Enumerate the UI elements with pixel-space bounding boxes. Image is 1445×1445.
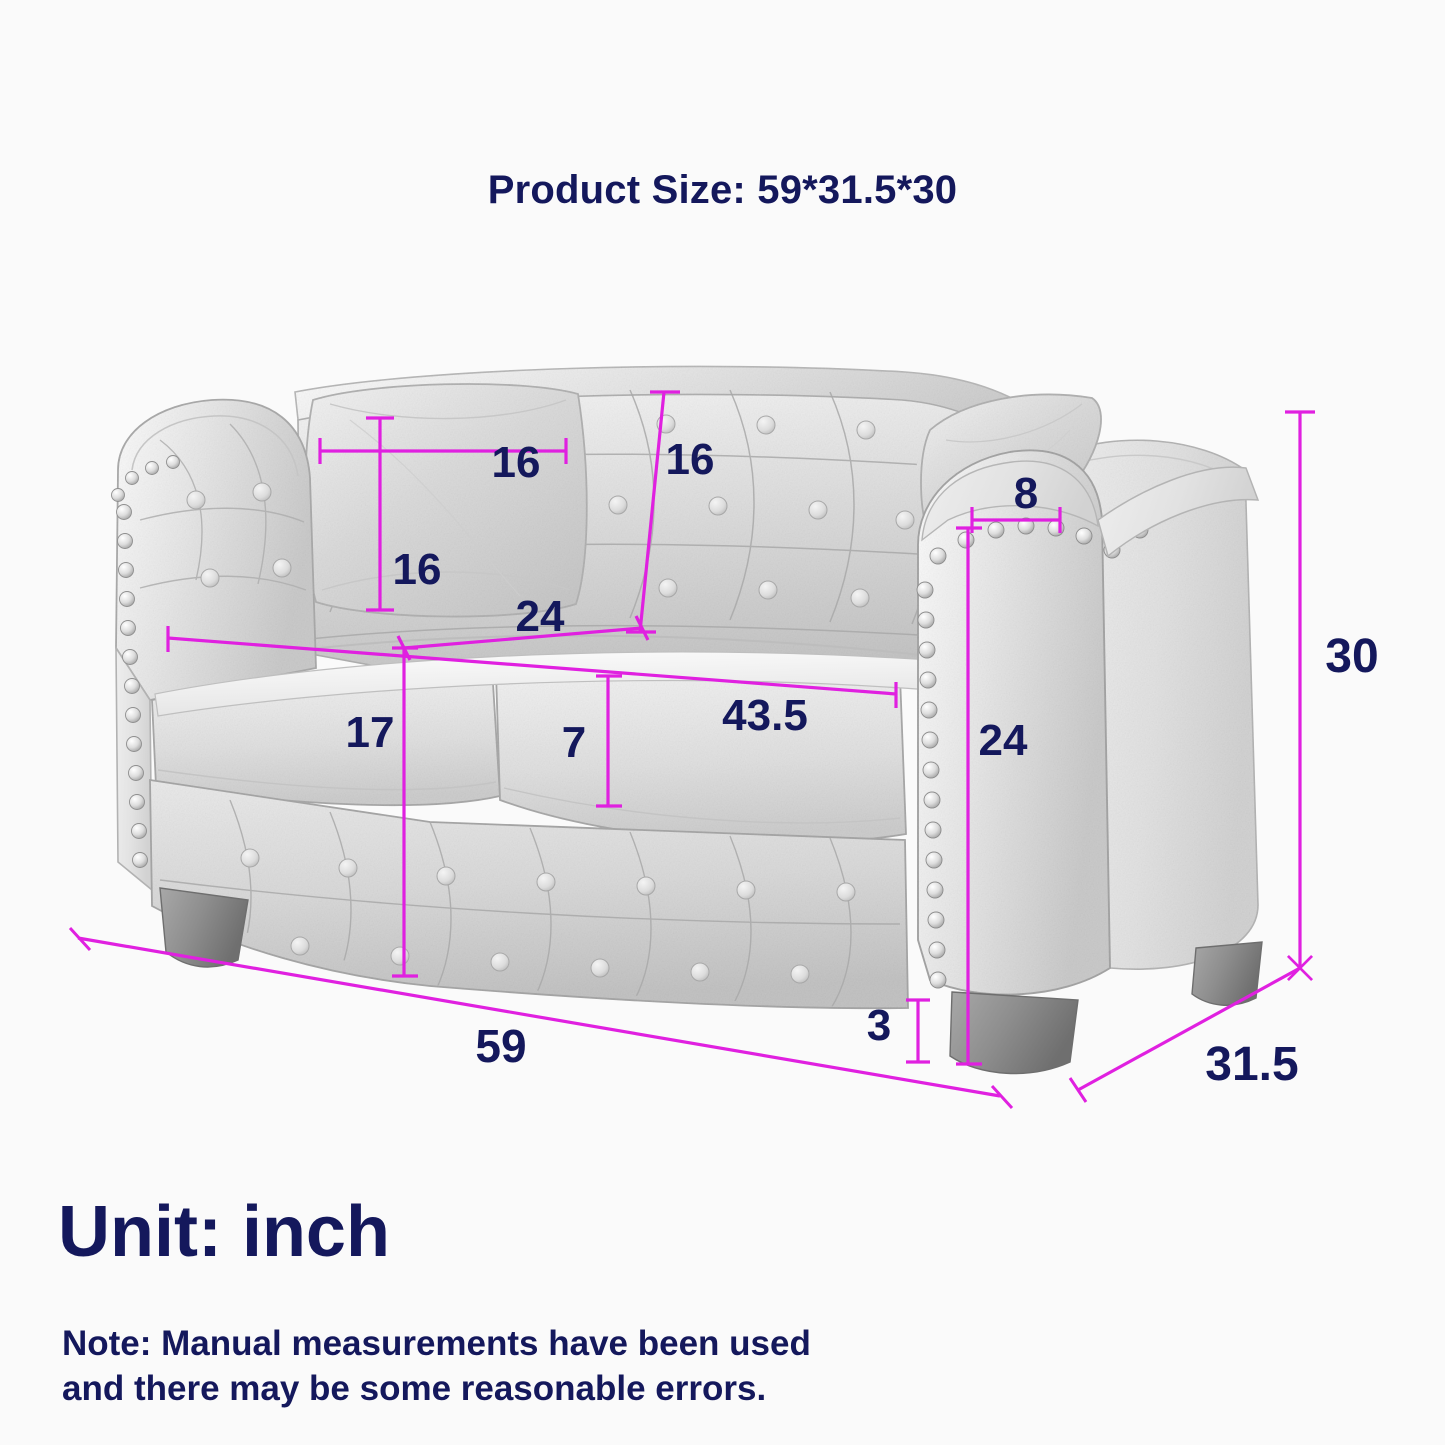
dimension-label-cushion-thickness: 7 (562, 718, 586, 767)
dimension-label-arm-height: 24 (979, 716, 1028, 765)
dimension-label-arm-width: 8 (1014, 469, 1038, 518)
dimension-label-seat-depth: 24 (516, 592, 565, 641)
dimline-overall-height (1285, 412, 1315, 980)
dimension-label-back-height: 16 (666, 435, 715, 484)
dimension-label-overall-height: 30 (1325, 630, 1378, 683)
dimension-label-pillow-width: 16 (492, 438, 541, 487)
dimension-label-overall-depth: 31.5 (1205, 1038, 1298, 1091)
measurement-note: Note: Manual measurements have been used… (62, 1322, 811, 1412)
dimension-label-overall-width: 59 (475, 1020, 526, 1072)
dimension-label-seat-width: 43.5 (722, 691, 808, 740)
product-dimension-diagram: Product Size: 59*31.5*30 (0, 0, 1445, 1445)
dimension-label-pillow-height: 16 (393, 545, 442, 594)
throw-pillow-left (305, 384, 587, 617)
unit-label: Unit: inch (58, 1196, 390, 1268)
dimension-label-leg-height: 3 (867, 1001, 891, 1050)
dimline-leg-height (906, 1000, 930, 1062)
dimension-label-seat-height: 17 (346, 708, 395, 757)
